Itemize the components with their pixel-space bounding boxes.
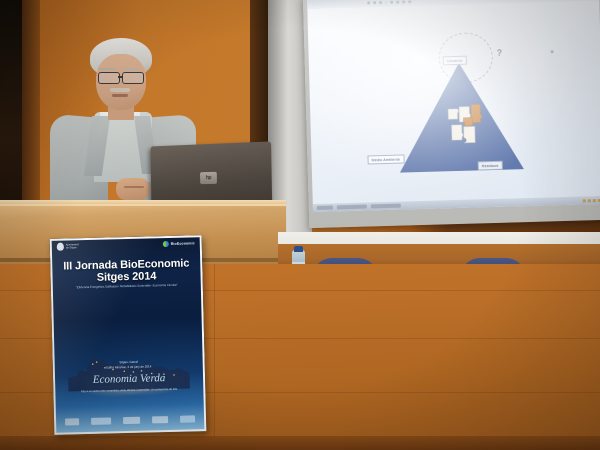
- system-tray[interactable]: [583, 198, 600, 202]
- toolbar-icon-4: [390, 1, 393, 4]
- sponsor-logo-1: [65, 418, 79, 425]
- glasses-lens-left: [98, 72, 120, 84]
- bioeconomic-logo-text: BioEconomic: [171, 241, 195, 246]
- hand-crease: [124, 186, 144, 188]
- slide-label-bottom-right: Residuos: [478, 161, 503, 171]
- leaf-icon: [163, 241, 169, 247]
- sponsor-logo-2: [91, 417, 111, 424]
- projection-screen[interactable]: ?: [307, 0, 600, 212]
- slide-label-bottom-left: Medio Ambiente: [367, 154, 404, 164]
- slide-canvas: ? Usuarios Medio Ambiente Residuos: [307, 1, 600, 204]
- question-mark-annotation: ?: [497, 48, 503, 58]
- eyebrow-left: [99, 68, 116, 70]
- ajuntament-line2: de Sitges: [66, 246, 77, 249]
- poster-sponsor-row: [54, 411, 206, 430]
- sponsor-logo-4: [152, 416, 168, 423]
- wall-seam-2: [214, 264, 215, 450]
- mouth: [112, 94, 128, 97]
- toolbar-icon-6: [402, 0, 405, 3]
- moustache: [110, 88, 130, 92]
- tray-icon-2: [588, 199, 591, 202]
- ajuntament-logo: Ajuntament de Sitges: [57, 242, 79, 251]
- glasses-lens-right: [122, 72, 144, 84]
- wall-dark-strip: [0, 0, 22, 232]
- poster-logo-row: Ajuntament de Sitges BioEconomic: [50, 235, 202, 255]
- taskbar-start-button[interactable]: [317, 205, 333, 209]
- event-poster[interactable]: Ajuntament de Sitges BioEconomic III Jor…: [50, 235, 207, 435]
- tray-icon-1: [583, 199, 586, 202]
- poster-title: III Jornada BioEconomic Sitges 2014: [50, 257, 203, 285]
- wall-strip-secondary: [22, 0, 40, 232]
- laptop-brand-logo: hp: [200, 172, 217, 184]
- toolbar-icon-3: [379, 1, 382, 4]
- eyebrow-right: [123, 68, 140, 70]
- bottle-cap: [294, 246, 303, 252]
- tray-icon-3: [593, 199, 596, 202]
- toolbar-icon-1: [367, 1, 370, 4]
- glasses-bridge: [118, 76, 123, 78]
- shield-icon: [57, 243, 64, 251]
- toolbar-zoom-label: ?: [385, 0, 387, 4]
- toolbar-icon-7: [408, 0, 411, 3]
- bioeconomic-logo: BioEconomic: [163, 240, 195, 247]
- screen-speck: [551, 50, 554, 53]
- toolbar-icon-2: [373, 1, 376, 4]
- floor: [0, 436, 600, 450]
- ajuntament-logo-text: Ajuntament de Sitges: [66, 243, 79, 250]
- sponsor-logo-5: [180, 415, 195, 422]
- poster-place-line2: Edifici Miramar, 3 de juny de 2014: [106, 364, 151, 369]
- sponsor-logo-3: [123, 417, 140, 424]
- conference-photo: ?: [0, 0, 600, 450]
- taskbar-window-2[interactable]: [371, 204, 401, 209]
- puzzle-pieces-icon: [446, 102, 487, 145]
- taskbar-window-1[interactable]: [337, 205, 367, 210]
- slide-label-top: Usuarios: [443, 56, 467, 66]
- toolbar-icon-5: [396, 1, 399, 4]
- hands: [116, 178, 150, 200]
